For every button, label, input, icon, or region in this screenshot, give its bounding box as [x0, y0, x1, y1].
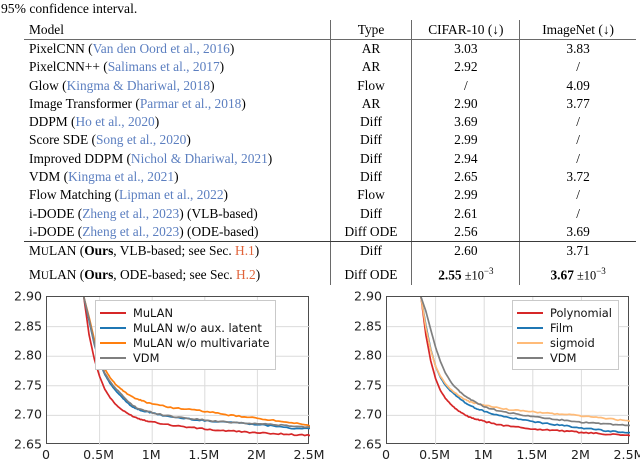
cell-imagenet: 3.67 ±10−3 [520, 262, 636, 286]
cell-cifar10: 2.55 ±10−3 [412, 262, 520, 286]
cell-imagenet: 4.09 [520, 77, 636, 95]
cell-imagenet: 3.71 [520, 242, 636, 262]
chart-right-yticks: 2.652.702.752.802.852.90 [342, 296, 382, 444]
chart-left-legend: MuLANMuLAN w/o aux. latentMuLAN w/o mult… [95, 300, 276, 370]
citation-link[interactable]: Zheng et al., 2023 [82, 224, 179, 239]
x-tick-label: 2M [571, 447, 590, 462]
y-tick-label: 2.90 [354, 289, 382, 304]
table-header-row: Model Type CIFAR-10 (↓) ImageNet (↓) [24, 20, 636, 40]
chart-left-yticks: 2.652.702.752.802.852.90 [2, 296, 42, 444]
legend-label: MuLAN [133, 306, 173, 320]
table-row: i-DODE (Zheng et al., 2023) (ODE-based)D… [24, 223, 636, 242]
cell-imagenet: / [520, 113, 636, 131]
legend-label: sigmoid [550, 336, 595, 350]
section-reference-link[interactable]: H.1 [235, 243, 255, 258]
y-tick-label: 2.70 [14, 407, 42, 422]
cell-cifar10: 2.92 [412, 58, 520, 76]
legend-swatch-icon [100, 357, 126, 359]
legend-label: MuLAN w/o aux. latent [133, 321, 262, 335]
table-row: Flow Matching (Lipman et al., 2022)Flow2… [24, 186, 636, 204]
x-tick-label: 0 [42, 447, 50, 462]
cell-cifar10: 2.61 [412, 205, 520, 223]
citation-link[interactable]: Song et al., 2020 [96, 132, 186, 147]
table-row-ours: MULAN (Ours, VLB-based; see Sec. H.1)Dif… [24, 242, 636, 262]
cell-imagenet: / [520, 205, 636, 223]
cell-cifar10: 2.99 [412, 131, 520, 149]
cell-cifar10: 2.56 [412, 223, 520, 242]
legend-item[interactable]: Polynomial [517, 305, 612, 320]
cell-model: Improved DDPM (Nichol & Dhariwal, 2021) [24, 150, 330, 168]
chart-right-legend: PolynomialFilmsigmoidVDM [512, 300, 619, 370]
y-tick-label: 2.65 [14, 437, 42, 452]
x-tick-label: 0.5M [419, 447, 450, 462]
cell-imagenet: 3.83 [520, 40, 636, 59]
legend-swatch-icon [100, 342, 126, 344]
table-row: i-DODE (Zheng et al., 2023) (VLB-based)D… [24, 205, 636, 223]
cell-cifar10: 2.65 [412, 168, 520, 186]
legend-swatch-icon [517, 342, 543, 344]
cell-type: Flow [330, 186, 412, 204]
cell-model: i-DODE (Zheng et al., 2023) (VLB-based) [24, 205, 330, 223]
legend-label: Polynomial [550, 306, 612, 320]
legend-item[interactable]: VDM [100, 350, 269, 365]
legend-label: Film [550, 321, 573, 335]
x-tick-label: 1.5M [188, 447, 219, 462]
legend-swatch-icon [517, 357, 543, 359]
cell-model: PixelCNN++ (Salimans et al., 2017) [24, 58, 330, 76]
y-tick-label: 2.70 [354, 407, 382, 422]
cell-cifar10: 2.90 [412, 95, 520, 113]
citation-link[interactable]: Kingma & Dhariwal, 2018 [67, 78, 211, 93]
paper-figure-page: 95% confidence interval. Model Type CIFA… [0, 0, 640, 471]
cell-imagenet: / [520, 58, 636, 76]
cell-cifar10: 2.94 [412, 150, 520, 168]
cell-type: AR [330, 58, 412, 76]
cell-type: Diff [330, 150, 412, 168]
cell-type: Diff [330, 242, 412, 262]
table-row: Glow (Kingma & Dhariwal, 2018)Flow/4.09 [24, 77, 636, 95]
cell-imagenet: / [520, 186, 636, 204]
y-tick-label: 2.85 [354, 318, 382, 333]
cell-cifar10: / [412, 77, 520, 95]
legend-label: MuLAN w/o multivariate [133, 336, 269, 350]
section-reference-link[interactable]: H.2 [236, 267, 256, 282]
legend-label: VDM [550, 351, 576, 365]
table-row: VDM (Kingma et al., 2021)Diff2.653.72 [24, 168, 636, 186]
legend-item[interactable]: MuLAN w/o multivariate [100, 335, 269, 350]
cell-model: Image Transformer (Parmar et al., 2018) [24, 95, 330, 113]
cell-type: Diff ODE [330, 262, 412, 286]
cell-imagenet: / [520, 150, 636, 168]
y-tick-label: 2.90 [14, 289, 42, 304]
cell-model: Flow Matching (Lipman et al., 2022) [24, 186, 330, 204]
x-tick-label: 0 [382, 447, 390, 462]
table-row: DDPM (Ho et al., 2020)Diff3.69/ [24, 113, 636, 131]
cell-imagenet: / [520, 131, 636, 149]
cell-model: VDM (Kingma et al., 2021) [24, 168, 330, 186]
cell-type: Diff [330, 205, 412, 223]
col-header-model: Model [24, 20, 330, 40]
chart-ablation-noise-schedule: Test loss (bits / dim) 2.652.702.752.802… [320, 288, 640, 471]
cell-model: Glow (Kingma & Dhariwal, 2018) [24, 77, 330, 95]
y-tick-label: 2.80 [354, 348, 382, 363]
table-row: Image Transformer (Parmar et al., 2018)A… [24, 95, 636, 113]
y-tick-label: 2.75 [14, 377, 42, 392]
legend-item[interactable]: sigmoid [517, 335, 612, 350]
legend-label: VDM [133, 351, 159, 365]
cell-model: i-DODE (Zheng et al., 2023) (ODE-based) [24, 223, 330, 242]
cell-type: AR [330, 40, 412, 59]
citation-link[interactable]: Zheng et al., 2023 [82, 206, 179, 221]
cell-type: Diff [330, 113, 412, 131]
results-table-wrapper: Model Type CIFAR-10 (↓) ImageNet (↓) Pix… [24, 20, 636, 285]
y-tick-label: 2.65 [354, 437, 382, 452]
chart-ablation-components: Test loss (bits / dim) 2.652.702.752.802… [0, 288, 320, 471]
cell-cifar10: 3.03 [412, 40, 520, 59]
citation-link[interactable]: Nichol & Dhariwal, 2021 [131, 151, 268, 166]
cell-type: Diff [330, 131, 412, 149]
table-row-ours: MULAN (Ours, ODE-based; see Sec. H.2)Dif… [24, 262, 636, 286]
cell-model: MULAN (Ours, VLB-based; see Sec. H.1) [24, 242, 330, 262]
citation-link[interactable]: Kingma et al., 2021 [68, 169, 174, 184]
legend-swatch-icon [517, 312, 543, 314]
x-tick-label: 2.5M [614, 447, 640, 462]
table-row: PixelCNN++ (Salimans et al., 2017)AR2.92… [24, 58, 636, 76]
figure-charts: Test loss (bits / dim) 2.652.702.752.802… [0, 288, 640, 471]
legend-swatch-icon [100, 312, 126, 314]
cell-cifar10: 3.69 [412, 113, 520, 131]
legend-swatch-icon [517, 327, 543, 329]
legend-item[interactable]: Film [517, 320, 612, 335]
x-tick-label: 1M [474, 447, 493, 462]
cell-model: Score SDE (Song et al., 2020) [24, 131, 330, 149]
cell-cifar10: 2.99 [412, 186, 520, 204]
legend-item[interactable]: MuLAN w/o aux. latent [100, 320, 269, 335]
y-tick-label: 2.85 [14, 318, 42, 333]
cell-imagenet: 3.69 [520, 223, 636, 242]
legend-item[interactable]: MuLAN [100, 305, 269, 320]
citation-link[interactable]: Van den Oord et al., 2016 [93, 41, 230, 56]
x-tick-label: 0.5M [83, 447, 114, 462]
cell-model: MULAN (Ours, ODE-based; see Sec. H.2) [24, 262, 330, 286]
cell-model: DDPM (Ho et al., 2020) [24, 113, 330, 131]
legend-swatch-icon [100, 327, 126, 329]
table-row: Score SDE (Song et al., 2020)Diff2.99/ [24, 131, 636, 149]
cell-type: AR [330, 95, 412, 113]
table-row: Improved DDPM (Nichol & Dhariwal, 2021)D… [24, 150, 636, 168]
citation-link[interactable]: Lipman et al., 2022 [119, 187, 224, 202]
x-tick-label: 1.5M [516, 447, 547, 462]
cell-type: Diff ODE [330, 223, 412, 242]
col-header-cifar10: CIFAR-10 (↓) [412, 20, 520, 40]
legend-item[interactable]: VDM [517, 350, 612, 365]
citation-link[interactable]: Salimans et al., 2017 [108, 59, 220, 74]
col-header-type: Type [330, 20, 412, 40]
citation-link[interactable]: Parmar et al., 2018 [140, 96, 242, 111]
col-header-imagenet: ImageNet (↓) [520, 20, 636, 40]
y-tick-label: 2.75 [354, 377, 382, 392]
x-tick-label: 2M [247, 447, 266, 462]
y-tick-label: 2.80 [14, 348, 42, 363]
citation-link[interactable]: Ho et al., 2020 [76, 114, 155, 129]
cell-cifar10: 2.60 [412, 242, 520, 262]
cell-type: Flow [330, 77, 412, 95]
cell-imagenet: 3.72 [520, 168, 636, 186]
cell-model: PixelCNN (Van den Oord et al., 2016) [24, 40, 330, 59]
cell-type: Diff [330, 168, 412, 186]
cell-imagenet: 3.77 [520, 95, 636, 113]
x-tick-label: 1M [142, 447, 161, 462]
table-body: PixelCNN (Van den Oord et al., 2016)AR3.… [24, 40, 636, 286]
results-table: Model Type CIFAR-10 (↓) ImageNet (↓) Pix… [24, 20, 636, 285]
caption-text: 95% confidence interval. [1, 1, 137, 16]
table-row: PixelCNN (Van den Oord et al., 2016)AR3.… [24, 40, 636, 59]
